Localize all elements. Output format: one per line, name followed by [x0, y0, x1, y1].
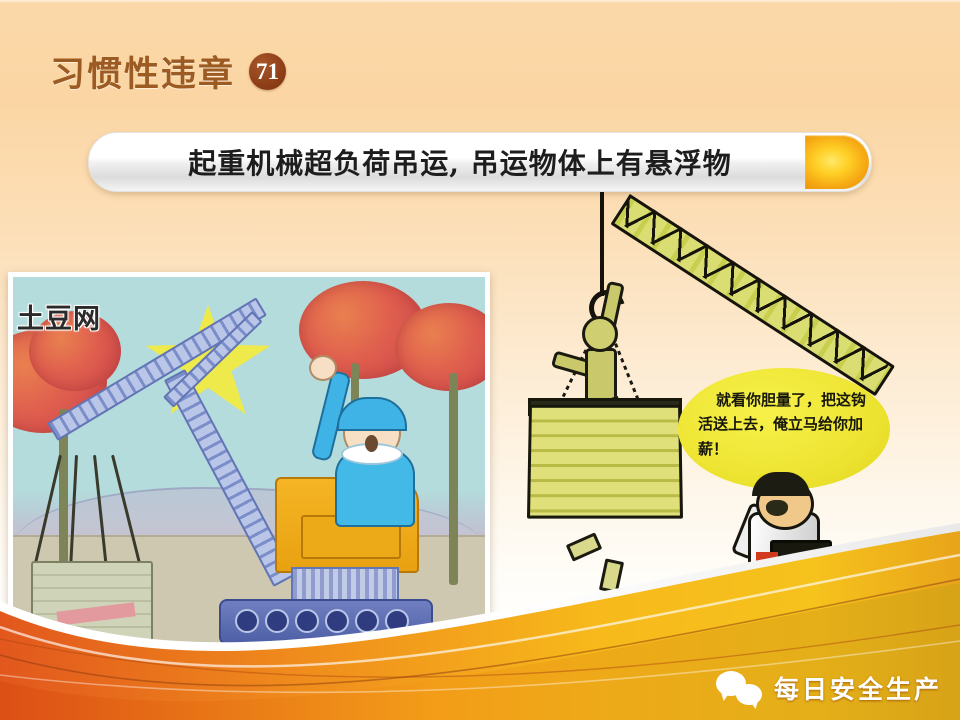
suspended-basket — [527, 405, 683, 519]
slide-title-row: 习惯性违章 71 — [50, 46, 286, 97]
operator-mouth — [365, 435, 378, 452]
hoist-cable — [600, 192, 604, 296]
status-badge: 71 — [249, 53, 286, 90]
speech-bubble-text: 就看你胆量了，把这钩活送上去，俺立马给你加薪！ — [686, 382, 882, 478]
slide-canvas: 习惯性违章 71 起重机械超负荷吊运, 吊运物体上有悬浮物 — [0, 0, 960, 720]
headline-banner: 起重机械超负荷吊运, 吊运物体上有悬浮物 — [88, 132, 872, 192]
crane-boom-bracing — [614, 194, 890, 388]
wechat-icon — [716, 671, 762, 705]
logo-label: 每日安全生产 — [774, 670, 942, 706]
page-title: 习惯性违章 — [50, 46, 235, 97]
banner-label: 起重机械超负荷吊运, 吊运物体上有悬浮物 — [89, 133, 831, 191]
basket-worker-head — [582, 316, 618, 352]
watermark-label: 土豆网 — [17, 297, 101, 336]
banner-end-cap-icon — [805, 135, 869, 189]
top-highlight-line — [0, 0, 960, 3]
operator-hand — [309, 355, 337, 381]
footer-logo: 每日安全生产 — [716, 670, 942, 706]
